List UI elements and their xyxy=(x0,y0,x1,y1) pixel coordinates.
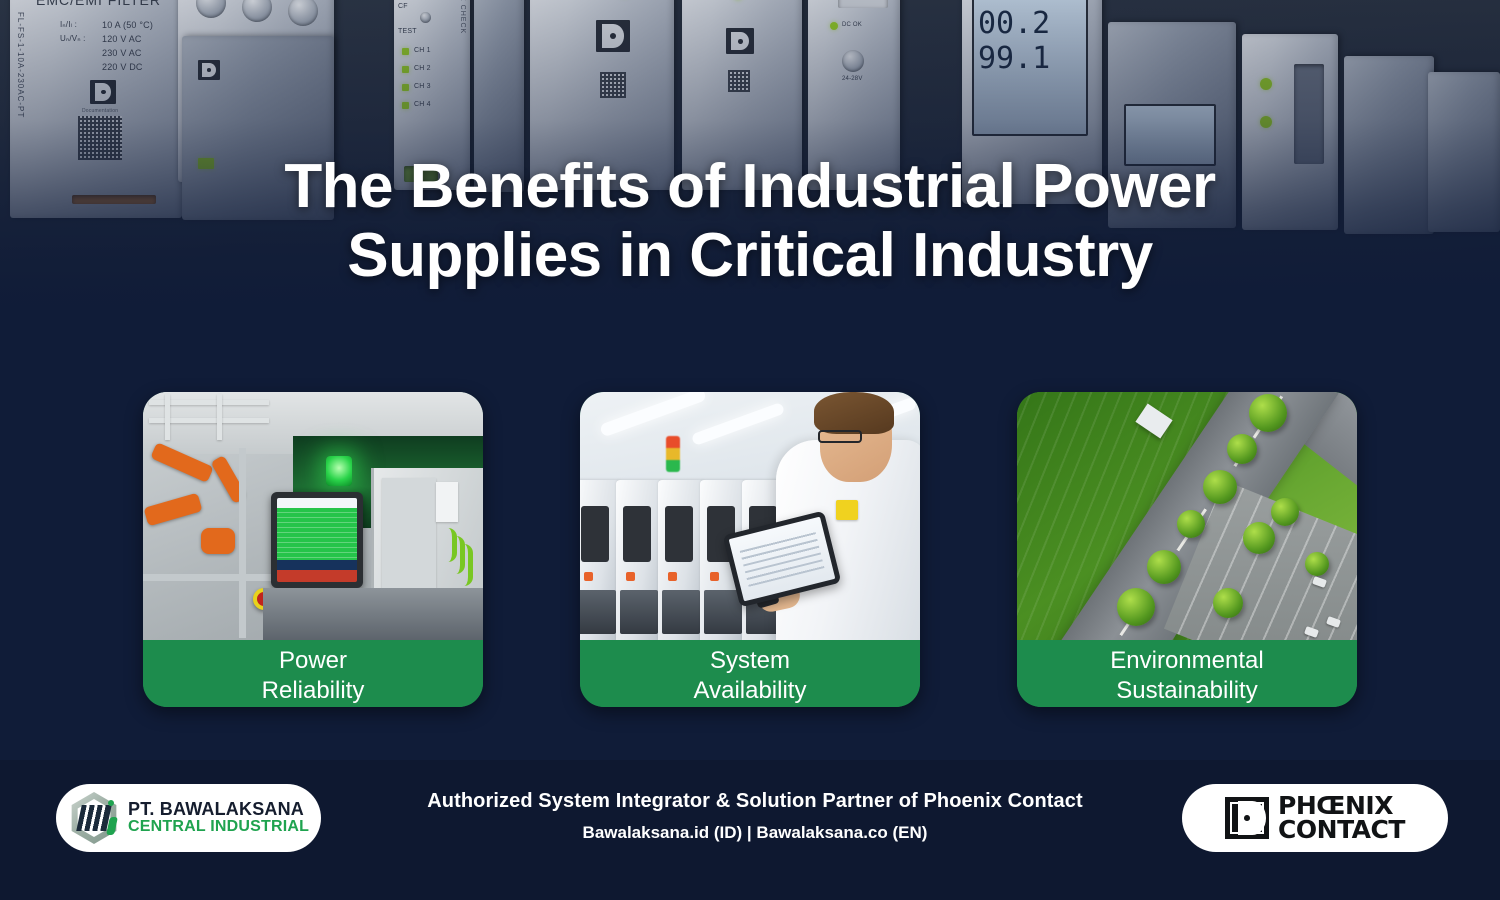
phoenix-icon-border xyxy=(1230,802,1264,834)
machine-led-4 xyxy=(710,572,719,581)
hmi-screen xyxy=(277,498,357,582)
control-cabinet xyxy=(371,468,483,606)
card-environmental-sustainability[interactable]: Environmental Sustainability xyxy=(1017,392,1357,707)
card-caption-power-reliability: Power Reliability xyxy=(143,640,483,707)
page-title: The Benefits of Industrial Power Supplie… xyxy=(0,152,1500,291)
production-machine-3 xyxy=(658,480,704,640)
tree-cluster-9 xyxy=(1213,588,1243,618)
robot-arm-2-base xyxy=(201,528,235,554)
machine-led-2 xyxy=(626,572,635,581)
green-signal-beacon xyxy=(326,456,352,486)
card-image-factory-automation xyxy=(143,392,483,640)
ceiling-beam-4 xyxy=(217,394,222,440)
tree-cluster-3 xyxy=(1203,470,1237,504)
footer-bar: PT. BAWALAKSANA CENTRAL INDUSTRIAL Autho… xyxy=(0,760,1500,900)
card-power-reliability[interactable]: Power Reliability xyxy=(143,392,483,707)
title-line-1: The Benefits of Industrial Power xyxy=(0,152,1500,221)
ceiling-lamp-1 xyxy=(599,392,707,437)
esd-badge xyxy=(836,500,858,520)
partner-logo[interactable]: PHŒNIX CONTACT xyxy=(1182,784,1448,852)
machine-screen-1 xyxy=(581,506,609,562)
machine-frame-horizontal xyxy=(143,574,271,581)
footer-text-block: Authorized System Integrator & Solution … xyxy=(340,790,1170,843)
footer-websites[interactable]: Bawalaksana.id (ID) | Bawalaksana.co (EN… xyxy=(340,823,1170,843)
emblem-monogram xyxy=(76,805,112,831)
card-system-availability[interactable]: System Availability xyxy=(580,392,920,707)
machine-screen-2 xyxy=(623,506,651,562)
green-cable-3 xyxy=(464,544,473,586)
machine-base-2 xyxy=(620,590,658,634)
machine-screen-3 xyxy=(665,506,693,562)
tree-cluster-6 xyxy=(1117,588,1155,626)
card-image-engineer-tablet xyxy=(580,392,920,640)
bawalaksana-emblem-icon xyxy=(68,792,120,844)
partner-name-line-2: CONTACT xyxy=(1278,818,1405,843)
reflective-floor-panel xyxy=(263,588,483,640)
tree-cluster-10 xyxy=(1305,552,1329,576)
machine-base-3 xyxy=(662,590,700,634)
circuit-breaker xyxy=(436,482,458,522)
card-caption-system-availability: System Availability xyxy=(580,640,920,707)
tree-cluster-8 xyxy=(1271,498,1299,526)
machine-led-1 xyxy=(584,572,593,581)
ceiling-beam-3 xyxy=(165,394,170,440)
tree-cluster-5 xyxy=(1147,550,1181,584)
title-line-2: Supplies in Critical Industry xyxy=(0,221,1500,290)
robot-arm-1-lower xyxy=(143,493,202,527)
machine-led-3 xyxy=(668,572,677,581)
tree-cluster-7 xyxy=(1243,522,1275,554)
card-caption-environmental-sustainability: Environmental Sustainability xyxy=(1017,640,1357,707)
machine-base-1 xyxy=(580,590,616,634)
banner-canvas: EMC/EMI FILTER Iₙ/Iₗ : 10 A (50 °C) Uₙ/V… xyxy=(0,0,1500,900)
ceiling-lamp-2 xyxy=(691,402,785,446)
card-image-aerial-road xyxy=(1017,392,1357,640)
phoenix-contact-icon xyxy=(1225,797,1269,839)
benefit-cards: Power Reliability xyxy=(0,392,1500,707)
footer-tagline: Authorized System Integrator & Solution … xyxy=(340,790,1170,813)
andon-signal-tower xyxy=(666,436,680,472)
production-machine-2 xyxy=(616,480,662,640)
emblem-green-dot xyxy=(108,800,114,806)
hmi-operator-panel[interactable] xyxy=(271,492,363,588)
cabinet-rail xyxy=(382,478,436,596)
engineer-hair xyxy=(814,392,894,434)
company-name-line-1: PT. BAWALAKSANA xyxy=(128,800,309,819)
partner-logo-text: PHŒNIX CONTACT xyxy=(1278,794,1405,843)
production-machine-1 xyxy=(580,480,620,640)
tree-cluster-1 xyxy=(1249,394,1287,432)
company-logo-text: PT. BAWALAKSANA CENTRAL INDUSTRIAL xyxy=(128,800,309,836)
machine-frame-vertical xyxy=(239,448,246,638)
tree-cluster-4 xyxy=(1177,510,1205,538)
company-logo[interactable]: PT. BAWALAKSANA CENTRAL INDUSTRIAL xyxy=(56,784,321,852)
company-name-line-2: CENTRAL INDUSTRIAL xyxy=(128,819,309,836)
engineer-glasses xyxy=(818,430,862,443)
tree-cluster-2 xyxy=(1227,434,1257,464)
machine-base-4 xyxy=(704,590,742,634)
